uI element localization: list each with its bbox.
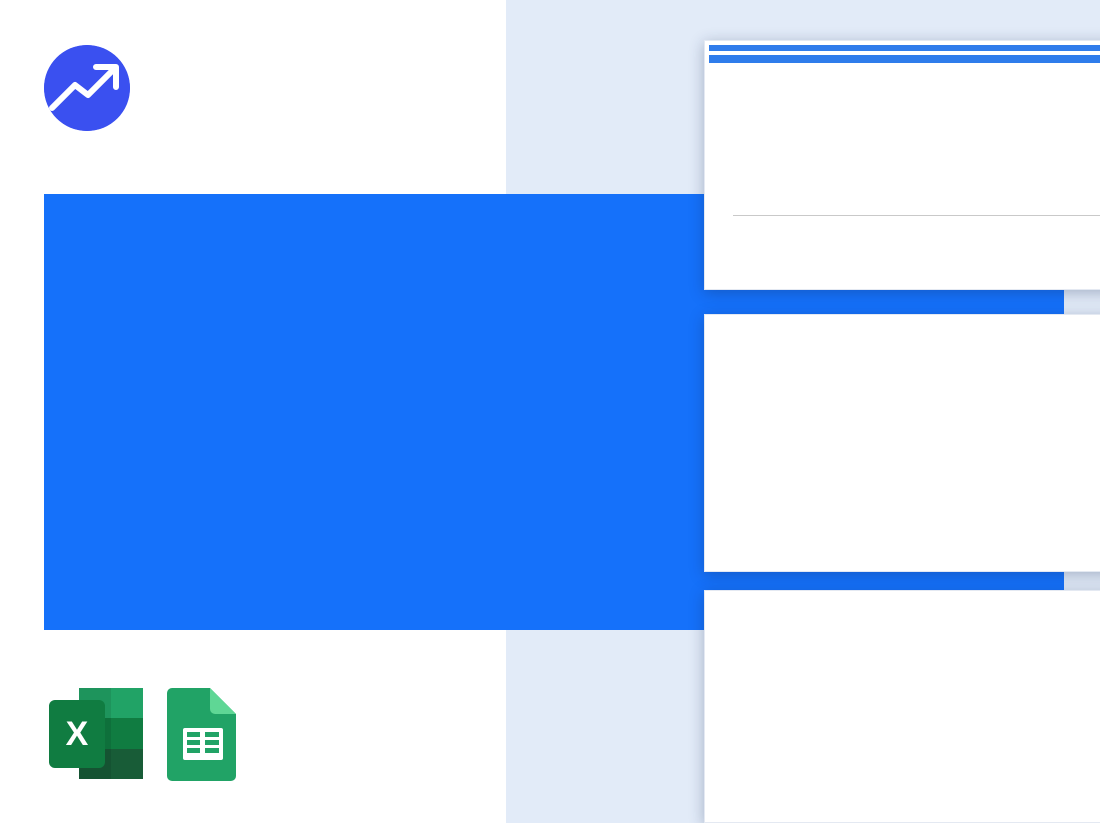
expense-table-title <box>709 45 1100 51</box>
ebitda-plot-area <box>705 614 1100 764</box>
revenue-chart-title <box>705 315 1100 329</box>
ebitda-card[interactable] <box>704 590 1100 823</box>
ebitda-plot <box>743 614 1100 764</box>
microsoft-excel-icon: X <box>46 686 146 781</box>
revenue-chart-legend <box>705 329 1100 338</box>
expense-chart-title <box>709 55 1100 63</box>
poster-canvas: X <box>0 0 1100 823</box>
ebitda-x-axis <box>743 764 1100 810</box>
ebitda-chart-title <box>705 591 1100 605</box>
brand-logo <box>44 45 148 131</box>
expense-categories-card[interactable] <box>704 40 1100 290</box>
ebitda-chart-legend <box>705 605 1100 614</box>
ebitda-y-axis <box>707 614 743 764</box>
percent-axis <box>707 66 733 216</box>
svg-text:X: X <box>66 715 89 753</box>
revenue-plot <box>743 338 1100 488</box>
percent-plot <box>733 66 1100 216</box>
revenue-plot-area <box>705 338 1100 488</box>
revenue-y-axis <box>707 338 743 488</box>
google-sheets-icon <box>164 686 242 781</box>
growth-arrow-icon <box>44 45 130 131</box>
format-row: X <box>46 686 270 781</box>
revenue-x-axis <box>743 488 1100 534</box>
expense-stacked-chart <box>707 66 1100 216</box>
revenue-breakdown-card[interactable] <box>704 314 1100 572</box>
